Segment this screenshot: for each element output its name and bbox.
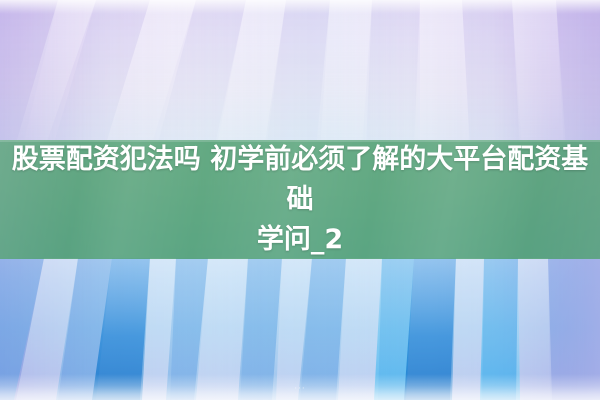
promo-banner: 股票配资犯法吗 初学前必须了解的大平台配资基础 学问_2 ··· xyxy=(0,0,600,400)
watermark-text: ··· xyxy=(0,384,600,394)
title-band: 股票配资犯法吗 初学前必须了解的大平台配资基础 学问_2 xyxy=(0,140,600,259)
top-haze xyxy=(0,0,600,14)
banner-title: 股票配资犯法吗 初学前必须了解的大平台配资基础 学问_2 xyxy=(0,140,600,260)
